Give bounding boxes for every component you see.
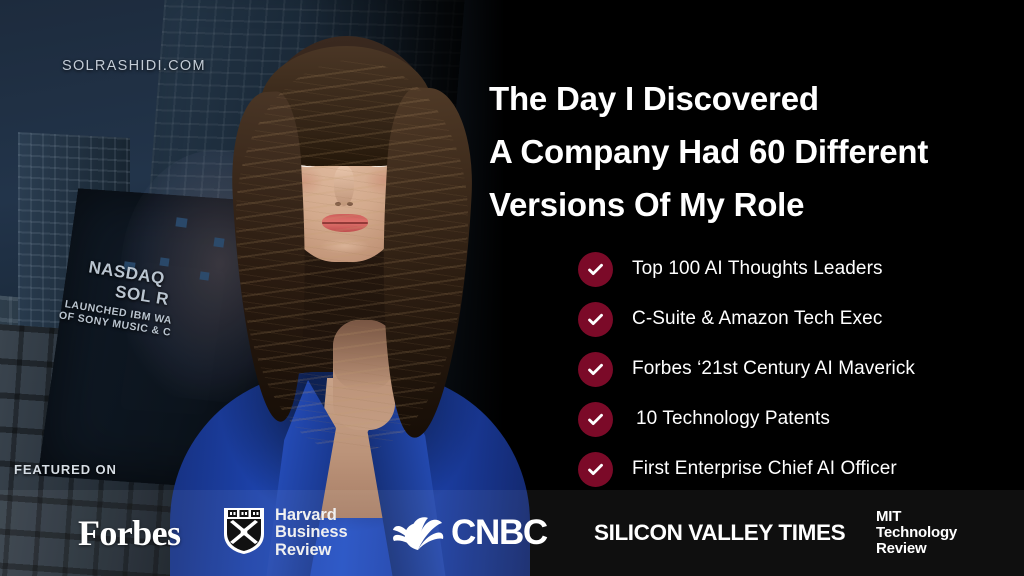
harvard-shield-icon xyxy=(222,506,266,561)
nostril-left xyxy=(335,202,341,206)
list-item-label: First Enterprise Chief AI Officer xyxy=(632,458,897,480)
nose xyxy=(334,166,354,206)
list-item: C-Suite & Amazon Tech Exec xyxy=(578,294,915,344)
credentials-list: Top 100 AI Thoughts Leaders C-Suite & Am… xyxy=(578,244,915,494)
promo-slide: NASDAQ SOL R LAUNCHED IBM WA OF SONY MUS… xyxy=(0,0,1024,576)
hbr-line-3: Review xyxy=(275,542,348,560)
list-item: Forbes ‘21st Century AI Maverick xyxy=(578,344,915,394)
logo-silicon-valley-times: SILICON VALLEY TIMES xyxy=(594,490,845,576)
list-item-label: Top 100 AI Thoughts Leaders xyxy=(632,258,883,280)
press-logo-bar: Forbes xyxy=(0,490,1024,576)
list-item: 10 Technology Patents xyxy=(578,394,915,444)
harvard-business-review-wordmark: Harvard Business Review xyxy=(275,507,348,560)
logo-mit-technology-review: MIT Technology Review xyxy=(876,490,957,576)
cnbc-peacock-icon xyxy=(392,510,444,557)
mit-line-1: MIT xyxy=(876,509,957,525)
headline-line-1: The Day I Discovered xyxy=(489,72,1019,125)
logo-cnbc: CNBC xyxy=(392,490,547,576)
list-item-label: Forbes ‘21st Century AI Maverick xyxy=(632,358,915,380)
lip-line xyxy=(322,222,368,224)
check-icon xyxy=(578,302,613,337)
list-item-label: 10 Technology Patents xyxy=(636,408,830,430)
cnbc-wordmark: CNBC xyxy=(451,513,547,553)
check-icon xyxy=(578,252,613,287)
nostril-right xyxy=(347,202,353,206)
check-icon xyxy=(578,452,613,487)
mit-line-3: Review xyxy=(876,541,957,557)
check-icon xyxy=(578,352,613,387)
site-watermark: SOLRASHIDI.COM xyxy=(62,58,206,74)
page-title: The Day I Discovered A Company Had 60 Di… xyxy=(489,72,1019,231)
list-item: Top 100 AI Thoughts Leaders xyxy=(578,244,915,294)
list-item: First Enterprise Chief AI Officer xyxy=(578,444,915,494)
chin-highlight xyxy=(320,238,370,254)
featured-on-label: FEATURED ON xyxy=(14,462,117,477)
check-icon xyxy=(578,402,613,437)
headline-line-2: A Company Had 60 Different xyxy=(489,125,1019,178)
silicon-valley-times-wordmark: SILICON VALLEY TIMES xyxy=(594,520,845,546)
logo-forbes: Forbes xyxy=(78,490,180,576)
list-item-label: C-Suite & Amazon Tech Exec xyxy=(632,308,882,330)
hbr-line-1: Harvard xyxy=(275,507,348,525)
hbr-line-2: Business xyxy=(275,524,348,542)
headline-line-3: Versions Of My Role xyxy=(489,178,1019,231)
logo-harvard-business-review: Harvard Business Review xyxy=(222,490,348,576)
mit-technology-review-wordmark: MIT Technology Review xyxy=(876,509,957,557)
mit-line-2: Technology xyxy=(876,525,957,541)
forbes-wordmark: Forbes xyxy=(78,512,180,554)
